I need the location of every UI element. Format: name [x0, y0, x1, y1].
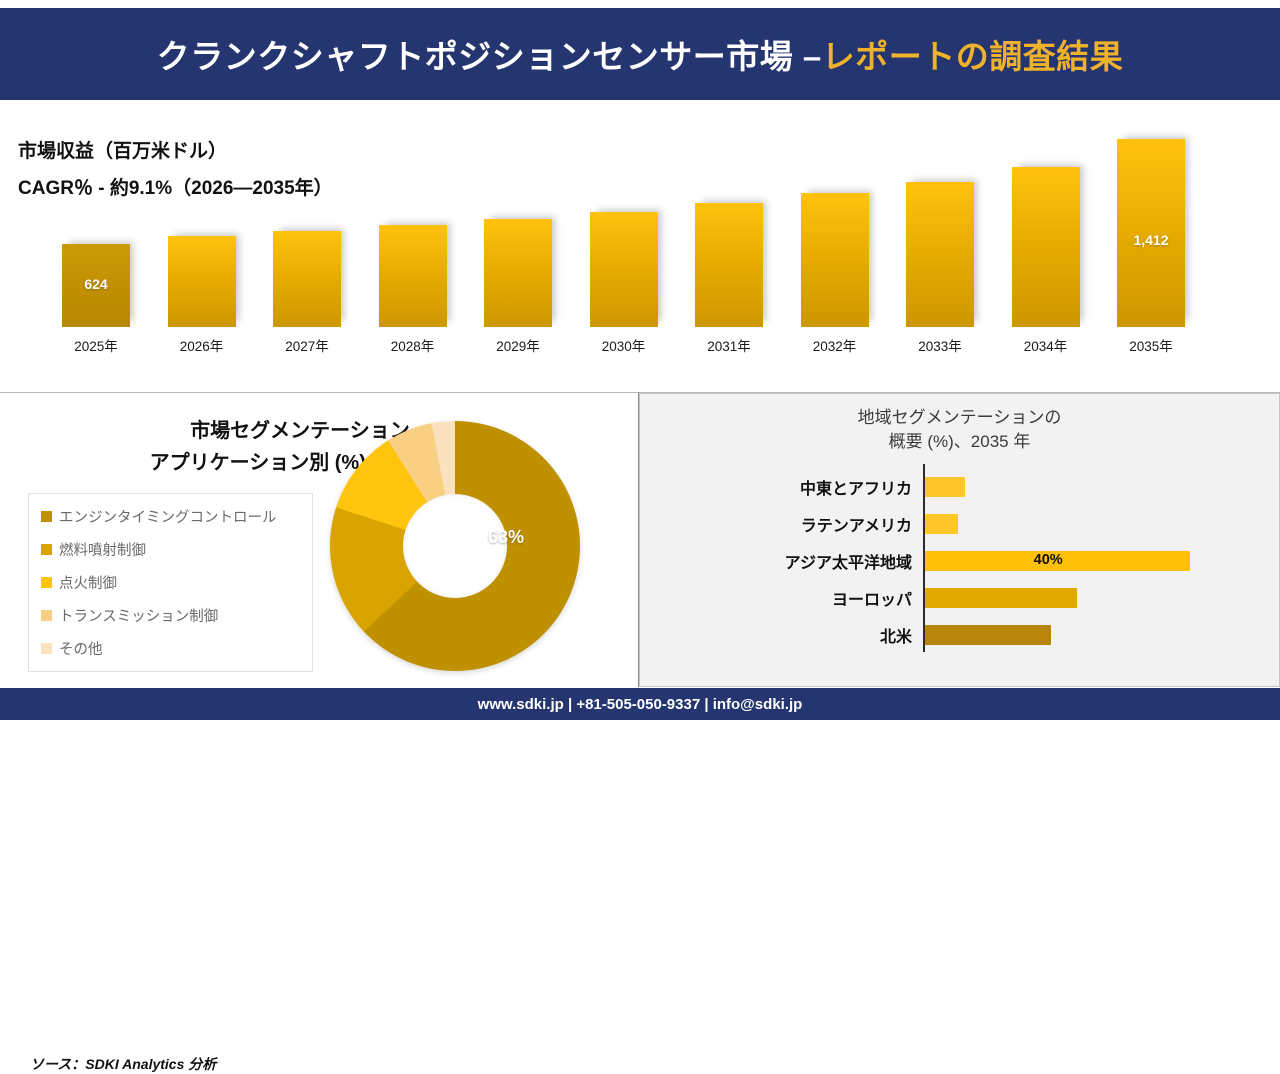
regional-panel: 地域セグメンテーションの 概要 (%)、2035 年 中東とアフリカラテンアメリ…	[639, 393, 1280, 687]
regional-bar	[925, 588, 1077, 608]
donut-value-label: 63%	[488, 527, 524, 548]
legend-item[interactable]: その他	[29, 632, 312, 665]
bar-column: 6242025年	[62, 130, 130, 363]
regional-category-label: ヨーロッパ	[640, 579, 912, 616]
regional-bars: 中東とアフリカラテンアメリカアジア太平洋地域40%ヨーロッパ北米	[640, 464, 1279, 664]
bar-shape	[590, 212, 658, 327]
regional-bar	[925, 625, 1051, 645]
bar-column: 2034年	[1012, 130, 1080, 363]
regional-row: 北米	[640, 616, 1279, 653]
legend-swatch-icon	[41, 577, 52, 588]
regional-bar-value-label: 40%	[1034, 552, 1063, 568]
bar-category-label: 2032年	[795, 335, 875, 355]
page-title: クランクシャフトポジションセンサー市場 –レポートの調査結果	[157, 30, 1124, 78]
page-title-dash: –	[803, 38, 822, 75]
bar-category-label: 2028年	[373, 335, 453, 355]
regional-row: 中東とアフリカ	[640, 468, 1279, 505]
legend-item[interactable]: エンジンタイミングコントロール	[29, 500, 312, 533]
regional-row: ヨーロッパ	[640, 579, 1279, 616]
bar-category-label: 2027年	[267, 335, 347, 355]
infographic-page: クランクシャフトポジションセンサー市場 –レポートの調査結果 市場収益（百万米ド…	[0, 0, 1280, 720]
legend-item[interactable]: トランスミッション制御	[29, 599, 312, 632]
legend-item[interactable]: 点火制御	[29, 566, 312, 599]
segmentation-panel: 市場セグメンテーション アプリケーション別 (%)、2035年 エンジンタイミン…	[0, 393, 638, 687]
bar-category-label: 2030年	[584, 335, 664, 355]
bar-column: 2030年	[590, 130, 658, 363]
footer-contact: www.sdki.jp | +81-505-050-9337 | info@sd…	[478, 696, 803, 713]
regional-row: ラテンアメリカ	[640, 505, 1279, 542]
regional-title: 地域セグメンテーションの 概要 (%)、2035 年	[640, 406, 1279, 454]
revenue-chart-section: 市場収益（百万米ドル） CAGR％ - 約9.1%（2026―2035年） 62…	[0, 100, 1280, 392]
bar-column: 2029年	[484, 130, 552, 363]
bar-column: 2026年	[168, 130, 236, 363]
regional-category-label: ラテンアメリカ	[640, 505, 912, 542]
regional-category-label: 北米	[640, 616, 912, 653]
regional-title-line1: 地域セグメンテーションの	[858, 408, 1062, 427]
bar-shape	[273, 231, 341, 327]
regional-category-label: 中東とアフリカ	[640, 468, 912, 505]
bar-category-label: 2026年	[162, 335, 242, 355]
legend-item[interactable]: 燃料噴射制御	[29, 533, 312, 566]
bar-category-label: 2025年	[56, 335, 136, 355]
page-title-main: クランクシャフトポジションセンサー市場	[157, 38, 794, 75]
legend-item-label: 燃料噴射制御	[59, 539, 146, 560]
bar-shape	[168, 236, 236, 327]
bar-category-label: 2035年	[1111, 335, 1191, 355]
legend-swatch-icon	[41, 544, 52, 555]
revenue-bars: 6242025年2026年2027年2028年2029年2030年2031年20…	[40, 130, 1240, 363]
donut-chart: 63%	[330, 421, 580, 671]
bar-column: 2031年	[695, 130, 763, 363]
bar-category-label: 2033年	[900, 335, 980, 355]
bar-column: 2028年	[379, 130, 447, 363]
regional-row: アジア太平洋地域40%	[640, 542, 1279, 579]
regional-bar	[925, 514, 958, 534]
segmentation-legend: エンジンタイミングコントロール燃料噴射制御点火制御トランスミッション制御その他	[28, 493, 313, 672]
regional-title-line2: 概要 (%)、2035 年	[889, 432, 1031, 451]
legend-item-label: 点火制御	[59, 572, 117, 593]
page-title-accent: レポートの調査結果	[822, 38, 1124, 75]
bar-shape	[801, 193, 869, 327]
header-banner: クランクシャフトポジションセンサー市場 –レポートの調査結果	[0, 8, 1280, 100]
bar-column: 2032年	[801, 130, 869, 363]
legend-item-label: その他	[59, 638, 103, 659]
bar-shape	[906, 182, 974, 327]
bar-column: 1,4122035年	[1117, 130, 1185, 363]
bar-category-label: 2034年	[1006, 335, 1086, 355]
bar-value-label: 1,412	[1117, 232, 1185, 248]
bar-shape	[379, 225, 447, 327]
bar-shape	[695, 203, 763, 327]
bar-value-label: 624	[62, 276, 130, 292]
regional-category-label: アジア太平洋地域	[640, 542, 912, 579]
legend-item-label: エンジンタイミングコントロール	[59, 506, 277, 527]
bar-shape	[1012, 167, 1080, 327]
legend-swatch-icon	[41, 643, 52, 654]
regional-bar	[925, 477, 965, 497]
bar-category-label: 2029年	[478, 335, 558, 355]
bar-column: 2033年	[906, 130, 974, 363]
footer-bar: www.sdki.jp | +81-505-050-9337 | info@sd…	[0, 688, 1280, 720]
bar-category-label: 2031年	[689, 335, 769, 355]
source-note: ソース：SDKI Analytics 分析	[30, 1054, 216, 1074]
bar-column: 2027年	[273, 130, 341, 363]
bar-shape	[484, 219, 552, 327]
legend-item-label: トランスミッション制御	[59, 605, 218, 626]
legend-swatch-icon	[41, 610, 52, 621]
legend-swatch-icon	[41, 511, 52, 522]
